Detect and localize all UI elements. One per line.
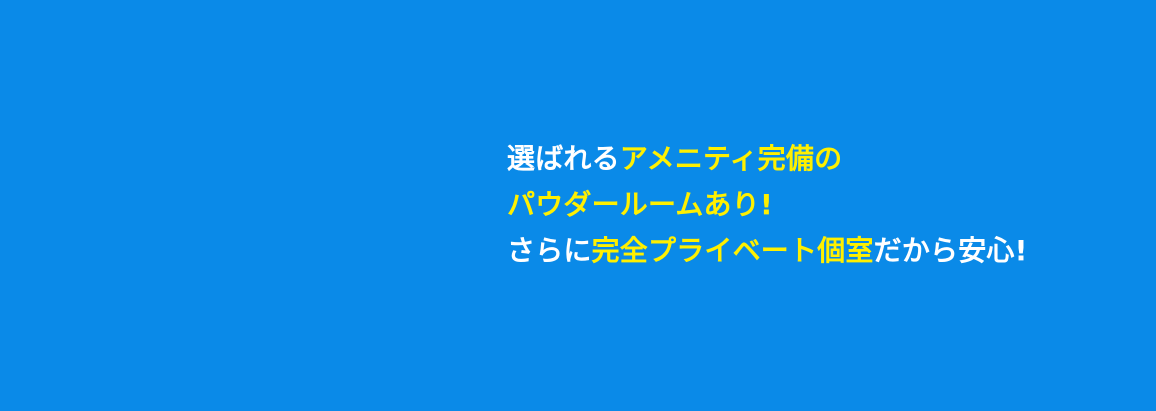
headline-line-1-segment-2: アメニティ完備の xyxy=(620,142,843,175)
headline-line-3-segment-1: さらに xyxy=(507,234,592,267)
promo-banner: 選ばれるアメニティ完備の パウダールームあり! さらに完全プライベート個室だから… xyxy=(0,0,1156,411)
headline-line-3-segment-3: だから安心! xyxy=(874,234,1028,267)
headline-text: 選ばれるアメニティ完備の パウダールームあり! さらに完全プライベート個室だから… xyxy=(507,136,1028,274)
headline-line-1: 選ばれるアメニティ完備の xyxy=(507,136,1028,182)
headline-line-1-segment-1: 選ばれる xyxy=(507,142,620,175)
headline-line-2-segment-1: パウダールームあり! xyxy=(507,188,773,221)
headline-line-3: さらに完全プライベート個室だから安心! xyxy=(507,228,1028,274)
headline-line-2: パウダールームあり! xyxy=(507,182,1028,228)
headline-line-3-segment-2: 完全プライベート個室 xyxy=(592,234,874,267)
